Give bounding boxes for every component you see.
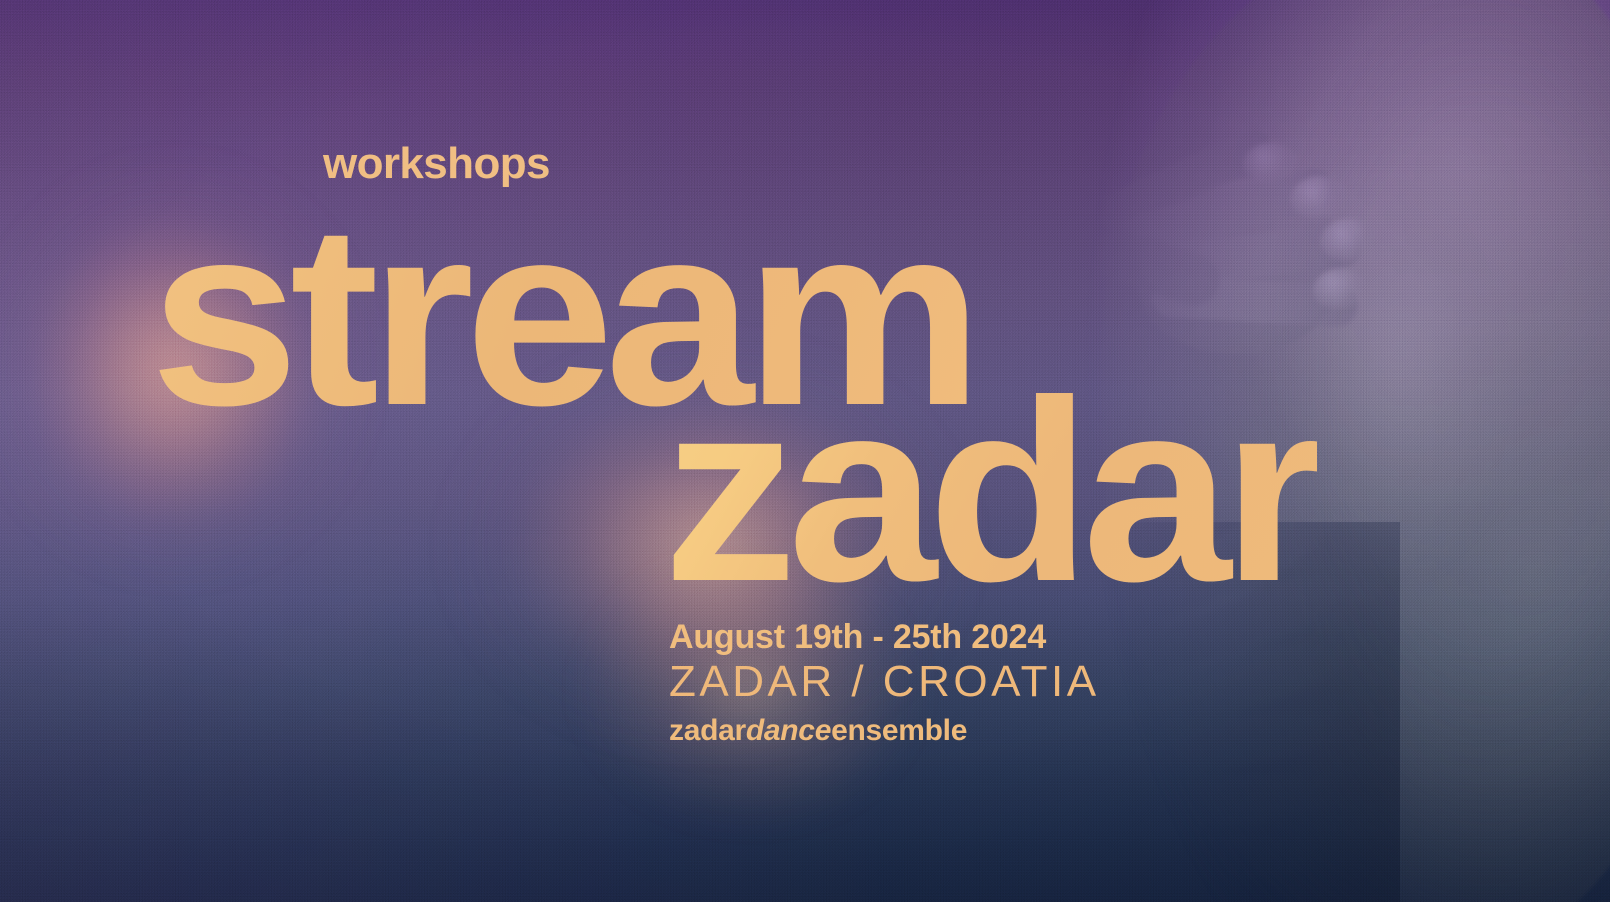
- organizer-name: zadardanceensemble: [669, 714, 1100, 747]
- event-dates: August 19th - 25th 2024: [669, 618, 1100, 656]
- organizer-suffix: ensemble: [831, 714, 967, 747]
- organizer-emphasis: dance: [746, 714, 831, 747]
- poster-canvas: workshops stream zadar August 19th - 25t…: [0, 0, 1610, 902]
- event-info-block: August 19th - 25th 2024 ZADAR / CROATIA …: [669, 618, 1100, 747]
- title-zadar: zadar: [663, 362, 1317, 620]
- event-location: ZADAR / CROATIA: [669, 658, 1100, 706]
- organizer-prefix: zadar: [669, 714, 746, 747]
- typography-layer: workshops stream zadar August 19th - 25t…: [0, 0, 1610, 902]
